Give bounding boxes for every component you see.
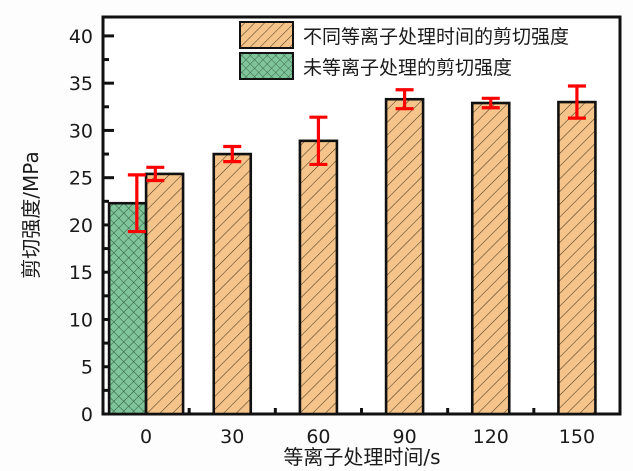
y-tick-label: 25	[69, 168, 93, 190]
y-tick-label: 5	[81, 357, 93, 379]
x-tick-label: 30	[220, 426, 244, 448]
x-tick-label: 0	[140, 426, 152, 448]
x-axis-title: 等离子处理时间/s	[283, 445, 440, 469]
x-tick-label: 120	[473, 426, 509, 448]
bar-plasma-treated-60	[300, 141, 337, 414]
bar-plasma-treated-120	[472, 103, 509, 414]
bar-plasma-treated-0	[146, 174, 183, 414]
legend-label-untreated: 未等离子处理的剪切强度	[303, 57, 512, 79]
bar-plasma-treated-90	[386, 99, 423, 414]
bar-untreated-0	[109, 203, 146, 414]
y-tick-label: 35	[69, 73, 93, 95]
legend-label-plasma-treated: 不同等离子处理时间的剪切强度	[303, 26, 569, 48]
y-tick-label: 20	[69, 215, 93, 237]
y-tick-label: 40	[69, 26, 93, 48]
bar-plasma-treated-30	[214, 154, 251, 414]
bar-plasma-treated-150	[558, 102, 595, 414]
chart-figure: 0510152025303540 0306090120150 剪切强度/MPa …	[0, 0, 633, 471]
y-tick-label: 10	[69, 309, 93, 331]
x-tick-label: 150	[559, 426, 595, 448]
y-tick-label: 0	[81, 404, 93, 426]
legend-swatch-untreated	[240, 53, 293, 79]
y-tick-label: 15	[69, 262, 93, 284]
bar-chart: 0510152025303540 0306090120150 剪切强度/MPa …	[0, 0, 633, 471]
y-tick-label: 30	[69, 120, 93, 142]
legend-swatch-plasma-treated	[240, 22, 293, 48]
y-axis-title: 剪切强度/MPa	[19, 151, 43, 278]
